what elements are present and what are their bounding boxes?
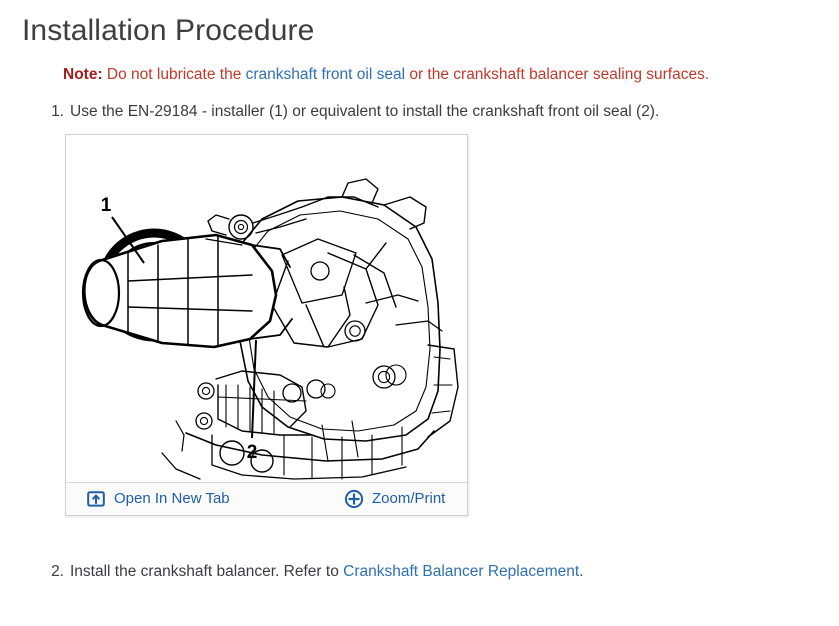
step-2-text-after-link: .	[579, 563, 583, 580]
note-label: Note:	[63, 66, 103, 83]
step-item-2: 2.Install the crankshaft balancer. Refer…	[42, 561, 584, 583]
figure-image[interactable]: 1 2	[66, 135, 467, 482]
step-2-number: 2.	[42, 561, 64, 583]
service-manual-page: Installation Procedure Note: Do not lubr…	[0, 0, 839, 626]
note-callout: Note: Do not lubricate the crankshaft fr…	[63, 64, 709, 86]
figure-callout-2: 2	[247, 442, 258, 463]
step-1-number: 1.	[42, 101, 64, 123]
figure-container: 1 2 Open In New Tab	[65, 134, 468, 516]
open-in-new-tab-icon	[86, 489, 106, 509]
note-text-after-link: or the crankshaft balancer sealing surfa…	[405, 66, 709, 83]
page-title: Installation Procedure	[22, 11, 314, 51]
open-in-new-tab-label: Open In New Tab	[114, 488, 230, 510]
step-2-text-before-link: Install the crankshaft balancer. Refer t…	[70, 563, 343, 580]
step-1-text: Use the EN-29184 - installer (1) or equi…	[70, 103, 659, 120]
note-link-crankshaft-front-oil-seal[interactable]: crankshaft front oil seal	[246, 66, 405, 83]
note-text-before-link: Do not lubricate the	[103, 66, 246, 83]
engine-line-drawing: 1 2	[66, 135, 467, 482]
zoom-print-plus-icon	[344, 489, 364, 509]
zoom-print-button[interactable]: Zoom/Print	[344, 488, 445, 510]
figure-callout-1: 1	[101, 195, 112, 216]
open-in-new-tab-button[interactable]: Open In New Tab	[86, 488, 230, 510]
zoom-print-label: Zoom/Print	[372, 488, 445, 510]
step-item-1: 1.Use the EN-29184 - installer (1) or eq…	[42, 101, 659, 123]
figure-toolbar: Open In New Tab Zoom/Print	[66, 482, 467, 515]
step-2-link-crankshaft-balancer-replacement[interactable]: Crankshaft Balancer Replacement	[343, 563, 579, 580]
